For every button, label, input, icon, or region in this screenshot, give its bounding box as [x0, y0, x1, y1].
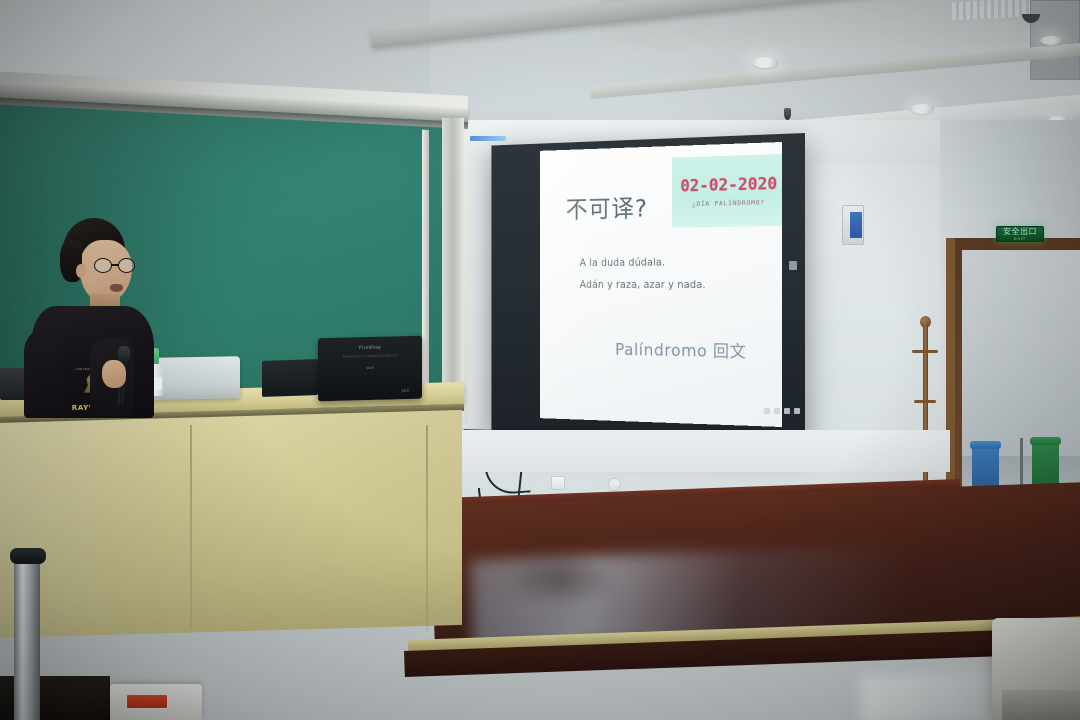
- smartboard[interactable]: 不可译? 02-02-2020 ¿DÍA PALÍNDROMO? A la du…: [455, 133, 805, 448]
- wall-socket-round: [608, 478, 621, 491]
- slide-body-line: A la duda dúdala.: [580, 257, 666, 269]
- close-icon[interactable]: [794, 408, 800, 414]
- white-chair-seat: [1002, 690, 1080, 720]
- monitor-text-action[interactable]: start: [318, 364, 422, 372]
- date-graphic-caption: ¿DÍA PALÍNDROMO?: [692, 198, 765, 207]
- presenter: LIMITED EDITION RAYVELL: [18, 218, 168, 408]
- monitor-text-primary: FirstRow: [318, 344, 422, 353]
- presenter-shoulder: [24, 326, 64, 418]
- exit-sign-label-cn: 安全出口: [1003, 227, 1037, 236]
- podium-panel-seam: [426, 425, 428, 630]
- stanchion-cap: [10, 548, 46, 564]
- exit-sign: 安全出口 EXIT: [996, 226, 1044, 242]
- slide-body-line: Adán y raza, azar y nada.: [580, 279, 706, 291]
- pause-icon[interactable]: [774, 408, 780, 414]
- desktop-monitor[interactable]: FirstRow Presentation connecting device …: [318, 336, 422, 402]
- stanchion-post: [14, 556, 40, 720]
- equipment-case-label: [126, 694, 168, 709]
- glasses-icon: [94, 258, 138, 273]
- stop-icon[interactable]: [784, 408, 790, 414]
- downlight-icon: [910, 104, 934, 114]
- downlight-icon: [1040, 36, 1062, 45]
- stage-back-wall: [430, 430, 950, 472]
- presentation-slide: 不可译? 02-02-2020 ¿DÍA PALÍNDROMO? A la du…: [540, 142, 782, 427]
- podium-front-panel: [0, 410, 462, 638]
- glasses-lens-left: [94, 258, 112, 273]
- coat-rack-hook: [912, 350, 938, 353]
- monitor-text-secondary: Presentation connecting device: [318, 353, 422, 360]
- monitor-brand-label: JEC: [401, 388, 410, 393]
- monitor-stand: [262, 359, 318, 397]
- slide-footer: Palíndromo 回文: [615, 336, 746, 363]
- glasses-lens-right: [118, 258, 135, 273]
- smartboard-brand-strip: [470, 136, 506, 141]
- presenter-mouth: [110, 284, 123, 292]
- wall-control-panel[interactable]: [842, 205, 864, 245]
- podium: [0, 395, 469, 675]
- coat-rack-hook: [914, 400, 936, 403]
- date-graphic-date: 02-02-2020: [680, 174, 777, 196]
- smartboard-screen[interactable]: 不可译? 02-02-2020 ¿DÍA PALÍNDROMO? A la du…: [540, 142, 782, 427]
- sprinkler-head-icon: [784, 108, 791, 120]
- slide-title: 不可译?: [566, 189, 648, 225]
- presenter-hand: [102, 360, 126, 388]
- downlight-icon: [752, 57, 778, 68]
- presenter-ear: [76, 264, 86, 278]
- smartboard-control-bar[interactable]: [764, 406, 806, 415]
- lecture-hall-photo: 安全出口 EXIT 不可译? 02-02-2020 ¿DÍA PALÍNDROM…: [0, 0, 1080, 720]
- chalkboard-seam: [422, 130, 429, 418]
- podium-panel-seam: [190, 425, 192, 630]
- play-icon[interactable]: [764, 408, 770, 414]
- exit-sign-label-en: EXIT: [1014, 236, 1026, 241]
- smartboard-side-indicator-icon: [789, 261, 797, 270]
- date-graphic: 02-02-2020 ¿DÍA PALÍNDROMO?: [672, 154, 782, 228]
